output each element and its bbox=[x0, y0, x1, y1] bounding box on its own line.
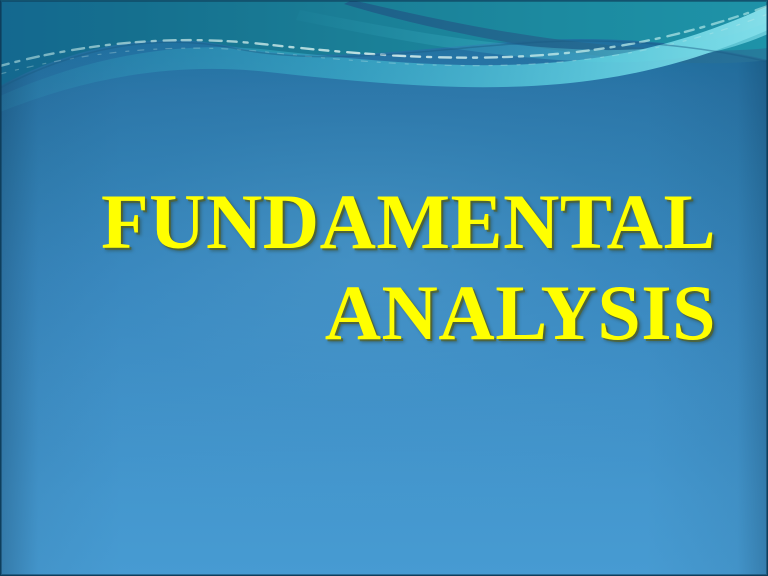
presentation-slide: FUNDAMENTAL ANALYSIS bbox=[0, 0, 768, 576]
slide-title: FUNDAMENTAL ANALYSIS bbox=[64, 176, 716, 359]
title-line-1: FUNDAMENTAL bbox=[64, 176, 716, 267]
title-line-2: ANALYSIS bbox=[64, 267, 716, 358]
